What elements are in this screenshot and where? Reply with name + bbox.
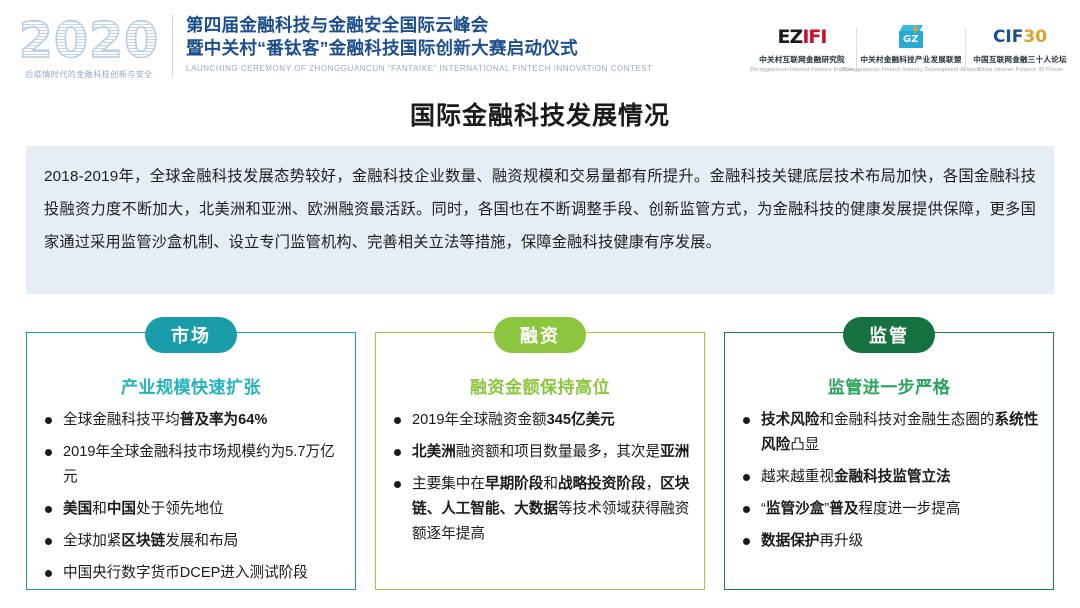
ezifi-logo-en: Zhongguancun Internet Finance Institute (750, 67, 855, 73)
cif30-logo-en: China Internet Finance 30 Forum (977, 67, 1062, 73)
card-funding-subtitle: 融资金额保持高位 (376, 373, 704, 398)
card-funding: 融资 融资金额保持高位 2019年全球融资金额345亿美元北美洲融资额和项目数量… (375, 332, 705, 590)
card-regulation: 监管 监管进一步严格 技术风险和金融科技对金融生态圈的系统性风险凸显越来越重视金… (724, 332, 1054, 590)
cif30-logo-icon: CIF30 (993, 25, 1047, 49)
card-market-bullet-list: 全球金融科技平均普及率为64%2019年全球金融科技市场规模约为5.7万亿元美国… (27, 408, 355, 586)
list-item: 美国和中国处于领先地位 (41, 497, 341, 522)
year-logo-tagline: 后疫情时代的金融科技创新与安全 (25, 69, 153, 80)
list-item: 全球加紧区块链发展和布局 (41, 529, 341, 554)
header-title-line2: 暨中关村“番钛客”金融科技国际创新大赛启动仪式 (186, 37, 746, 60)
card-regulation-badge: 监管 (843, 317, 935, 353)
list-item: 中国央行数字货币DCEP进入测试阶段 (41, 561, 341, 586)
ezifi-logo-icon: EZIFI (778, 25, 827, 49)
header-divider (172, 14, 173, 78)
intro-panel: 2018-2019年，全球金融科技发展态势较好，金融科技企业数量、融资规模和交易… (26, 146, 1054, 294)
card-funding-badge: 融资 (494, 317, 586, 353)
card-regulation-subtitle: 监管进一步严格 (725, 373, 1053, 398)
summary-cards: 市场 产业规模快速扩张 全球金融科技平均普及率为64%2019年全球金融科技市场… (26, 332, 1054, 590)
card-market-subtitle: 产业规模快速扩张 (27, 373, 355, 398)
alliance-logo-en: Zhongguancun Fintech Industry Developmen… (841, 67, 980, 73)
cif30-logo-cn: 中国互联网金融三十人论坛 (973, 54, 1067, 65)
list-item: 2019年全球融资金额345亿美元 (390, 408, 690, 433)
card-regulation-bullet-list: 技术风险和金融科技对金融生态圈的系统性风险凸显越来越重视金融科技监管立法“监管沙… (725, 408, 1053, 554)
page-header: 2020 后疫情时代的金融科技创新与安全 第四届金融科技与金融安全国际云峰会 暨… (0, 0, 1080, 92)
list-item: 2019年全球金融科技市场规模约为5.7万亿元 (41, 440, 341, 490)
list-item: 全球金融科技平均普及率为64% (41, 408, 341, 433)
card-market-badge: 市场 (145, 317, 237, 353)
list-item: 技术风险和金融科技对金融生态圈的系统性风险凸显 (739, 408, 1039, 458)
list-item: 主要集中在早期阶段和战略投资阶段，区块链、人工智能、大数据等技术领域获得融资额逐… (390, 472, 690, 547)
partner-logo-ezifi: EZIFI 中关村互联网金融研究院 Zhongguancun Internet … (748, 25, 856, 73)
list-item: 数据保护再升级 (739, 529, 1039, 554)
partner-logo-alliance: GZ 中关村金融科技产业发展联盟 Zhongguancun Fintech In… (857, 25, 965, 73)
ezifi-logo-cn: 中关村互联网金融研究院 (759, 54, 845, 65)
partner-logos: EZIFI 中关村互联网金融研究院 Zhongguancun Internet … (748, 18, 1074, 80)
header-title-line1: 第四届金融科技与金融安全国际云峰会 (186, 14, 746, 37)
card-market: 市场 产业规模快速扩张 全球金融科技平均普及率为64%2019年全球金融科技市场… (26, 332, 356, 590)
year-logo-number: 2020 (19, 15, 159, 67)
partner-logo-cif30: CIF30 中国互联网金融三十人论坛 China Internet Financ… (966, 25, 1074, 73)
alliance-cube-icon: GZ (898, 25, 924, 49)
header-title-english: LAUNCHING CEREMONY OF ZHONGGUANCUN “FANT… (186, 64, 746, 73)
intro-paragraph: 2018-2019年，全球金融科技发展态势较好，金融科技企业数量、融资规模和交易… (44, 160, 1036, 259)
alliance-logo-cn: 中关村金融科技产业发展联盟 (860, 54, 961, 65)
list-item: 北美洲融资额和项目数量最多，其次是亚洲 (390, 440, 690, 465)
page-title: 国际金融科技发展情况 (0, 96, 1080, 132)
event-year-logo: 2020 后疫情时代的金融科技创新与安全 (14, 8, 164, 86)
list-item: 越来越重视金融科技监管立法 (739, 465, 1039, 490)
list-item: “监管沙盒”普及程度进一步提高 (739, 497, 1039, 522)
card-funding-bullet-list: 2019年全球融资金额345亿美元北美洲融资额和项目数量最多，其次是亚洲主要集中… (376, 408, 704, 547)
header-title-block: 第四届金融科技与金融安全国际云峰会 暨中关村“番钛客”金融科技国际创新大赛启动仪… (186, 14, 746, 73)
